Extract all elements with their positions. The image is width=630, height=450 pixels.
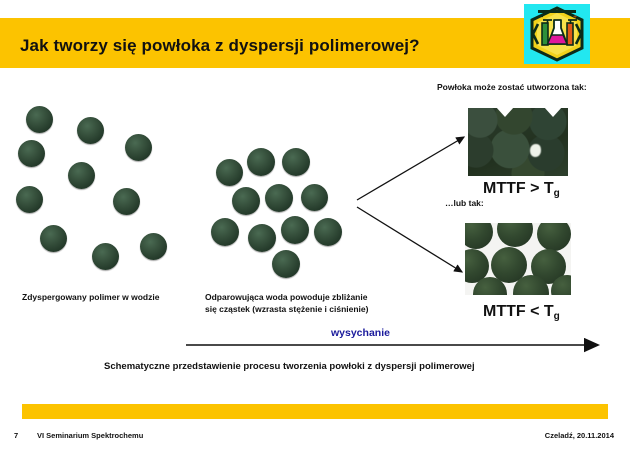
- label-mttf-below-tg-sub: g: [554, 311, 560, 322]
- particle: [92, 243, 119, 270]
- particle: [301, 184, 328, 211]
- micrograph-discrete-particles: [465, 223, 571, 295]
- label-mttf-above-tg-text: MTTF > T: [483, 180, 554, 197]
- label-mttf-above-tg: MTTF > Tg: [483, 180, 560, 199]
- particle: [211, 218, 239, 246]
- particle: [265, 184, 293, 212]
- particle: [140, 233, 167, 260]
- particle: [272, 250, 300, 278]
- diagram-bottom-caption: Schematyczne przedstawienie procesu twor…: [104, 361, 475, 372]
- caption-dispersed-polymer: Zdyspergowany polimer w wodzie: [22, 292, 159, 304]
- particle: [281, 216, 309, 244]
- label-mttf-below-tg-text: MTTF < T: [483, 303, 554, 320]
- particle: [18, 140, 45, 167]
- footer-event: VI Seminarium Spektrochemu: [37, 431, 143, 440]
- label-mttf-above-tg-sub: g: [554, 188, 560, 199]
- particle: [125, 134, 152, 161]
- footer-bar: [22, 404, 608, 419]
- svg-text:+: +: [573, 14, 577, 21]
- particle: [40, 225, 67, 252]
- page-title: Jak tworzy się powłoka z dyspersji polim…: [20, 36, 420, 56]
- micrograph-coalesced-film: [468, 108, 568, 176]
- footer-page-number: 7: [14, 431, 18, 440]
- particle: [216, 159, 243, 186]
- particle: [113, 188, 140, 215]
- particle: [16, 186, 43, 213]
- particle: [232, 187, 260, 215]
- caption-top-right: Powłoka może zostać utworzona tak:: [437, 82, 587, 92]
- caption-evaporating-water-line1: Odparowująca woda powoduje zbliżanie: [205, 292, 368, 304]
- caption-evaporating-water: Odparowująca woda powoduje zbliżanie się…: [205, 292, 368, 315]
- caption-evaporating-water-line2: się cząstek (wzrasta stężenie i ciśnieni…: [205, 304, 368, 316]
- particle: [26, 106, 53, 133]
- caption-or: …lub tak:: [445, 198, 484, 208]
- label-mttf-below-tg: MTTF < Tg: [483, 303, 560, 322]
- particle: [77, 117, 104, 144]
- particle: [248, 224, 276, 252]
- spektrochem-flask-logo-icon: - +: [524, 4, 590, 64]
- particle: [247, 148, 275, 176]
- footer-place-date: Czeladź, 20.11.2014: [545, 431, 614, 440]
- particle: [314, 218, 342, 246]
- process-arrow-label: wysychanie: [331, 327, 390, 339]
- particle: [68, 162, 95, 189]
- slide-canvas: Jak tworzy się powłoka z dyspersji polim…: [0, 0, 630, 450]
- particle: [282, 148, 310, 176]
